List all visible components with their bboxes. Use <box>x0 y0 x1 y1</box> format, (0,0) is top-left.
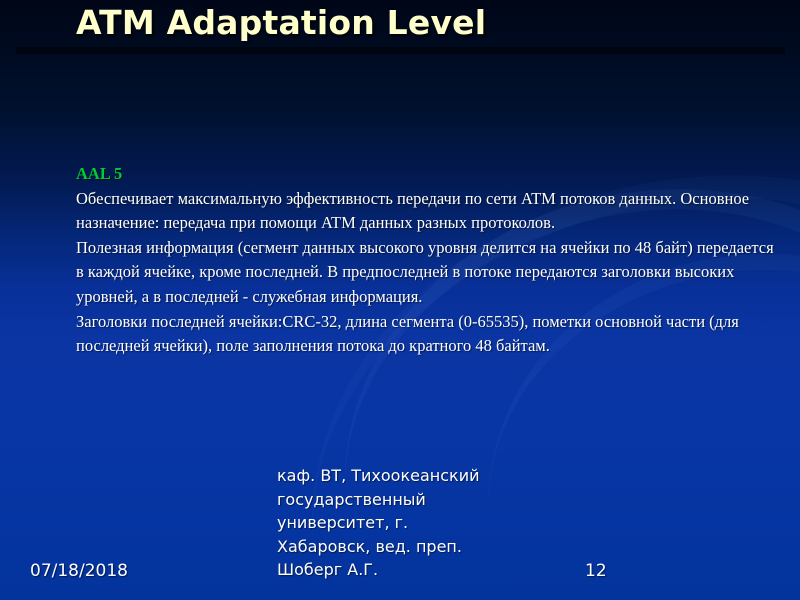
presentation-slide: ATM Adaptation Level AAL 5 Обеспечивает … <box>0 0 800 600</box>
slide-title: ATM Adaptation Level <box>76 2 776 44</box>
footer-page-number: 12 <box>585 560 607 582</box>
footer-date: 07/18/2018 <box>30 560 128 582</box>
body-paragraph-1: Обеспечивает максимальную эффективность … <box>76 187 778 236</box>
aal-heading: AAL 5 <box>76 162 778 187</box>
title-divider <box>16 47 785 54</box>
body-paragraph-3: Заголовки последней ячейки:CRC-32, длина… <box>76 310 778 359</box>
slide-body: AAL 5 Обеспечивает максимальную эффектив… <box>76 162 778 359</box>
affiliation-line-3: университет, г. <box>277 511 527 535</box>
affiliation-line-1: каф. ВТ, Тихоокеанский <box>277 464 527 488</box>
affiliation-line-2: государственный <box>277 488 527 512</box>
body-paragraph-2: Полезная информация (сегмент данных высо… <box>76 236 778 310</box>
affiliation-line-5: Шоберг А.Г. <box>277 558 527 582</box>
footer-affiliation: каф. ВТ, Тихоокеанский государственный у… <box>277 464 527 582</box>
affiliation-line-4: Хабаровск, вед. преп. <box>277 535 527 559</box>
